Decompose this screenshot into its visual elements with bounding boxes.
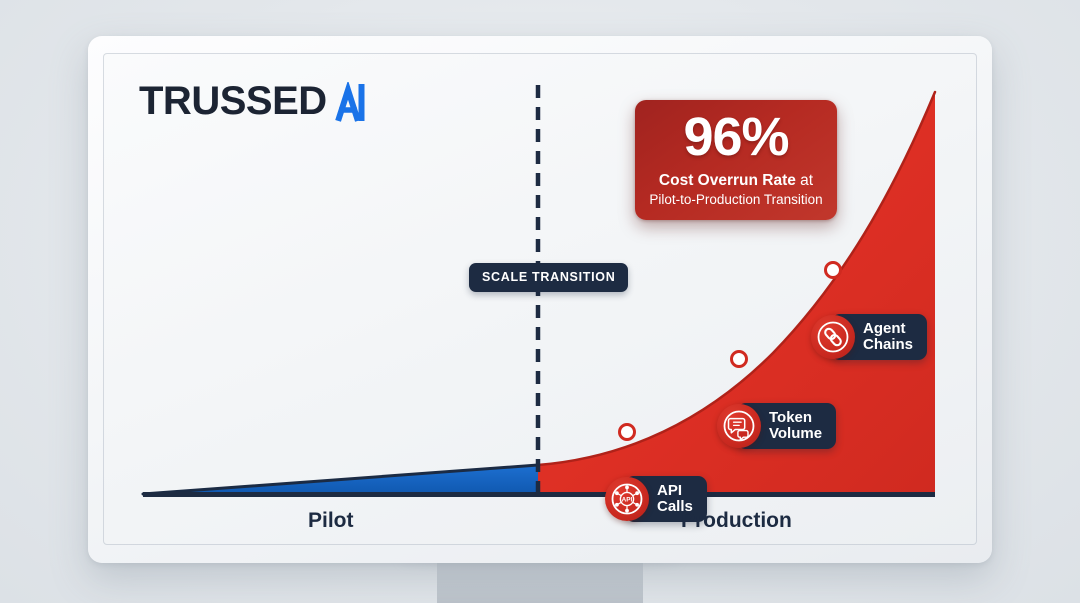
axis-label-pilot: Pilot [308, 509, 354, 533]
stat-caption-secondary: Pilot-to-Production Transition [649, 192, 823, 208]
marker-label-agent-chains: Agent Chains [863, 321, 913, 353]
marker-label-token-volume: Token Volume [769, 410, 822, 442]
stat-value: 96% [649, 112, 823, 164]
marker-token-volume[interactable]: Token Volume [717, 403, 836, 449]
monitor-screen: TRUSSED [103, 53, 977, 545]
stat-caption-light: at [796, 172, 813, 189]
axis-label-production: Production [681, 509, 792, 533]
marker-label-line1: Agent [863, 320, 906, 337]
marker-dot-api-calls [620, 425, 635, 440]
chain-link-icon [811, 315, 855, 359]
cost-growth-chart [103, 53, 977, 545]
marker-agent-chains[interactable]: Agent Chains [811, 314, 927, 360]
marker-dot-agent-chains [826, 263, 841, 278]
pilot-area-series [143, 465, 538, 496]
api-network-icon: API [605, 477, 649, 521]
marker-label-line2: Chains [863, 336, 913, 353]
svg-text:API: API [622, 496, 633, 503]
marker-label-line1: API [657, 482, 682, 499]
marker-dot-token-volume [732, 352, 747, 367]
chat-bubbles-icon [717, 404, 761, 448]
scene-root: TRUSSED [0, 0, 1080, 603]
marker-label-line2: Volume [769, 425, 822, 442]
stat-badge: 96% Cost Overrun Rate at Pilot-to-Produc… [635, 100, 837, 220]
stat-caption-strong: Cost Overrun Rate [659, 172, 796, 189]
monitor-stand [437, 560, 643, 603]
stat-caption-primary: Cost Overrun Rate at [649, 172, 823, 190]
scale-transition-pill: SCALE TRANSITION [469, 263, 628, 292]
marker-label-line1: Token [769, 409, 812, 426]
